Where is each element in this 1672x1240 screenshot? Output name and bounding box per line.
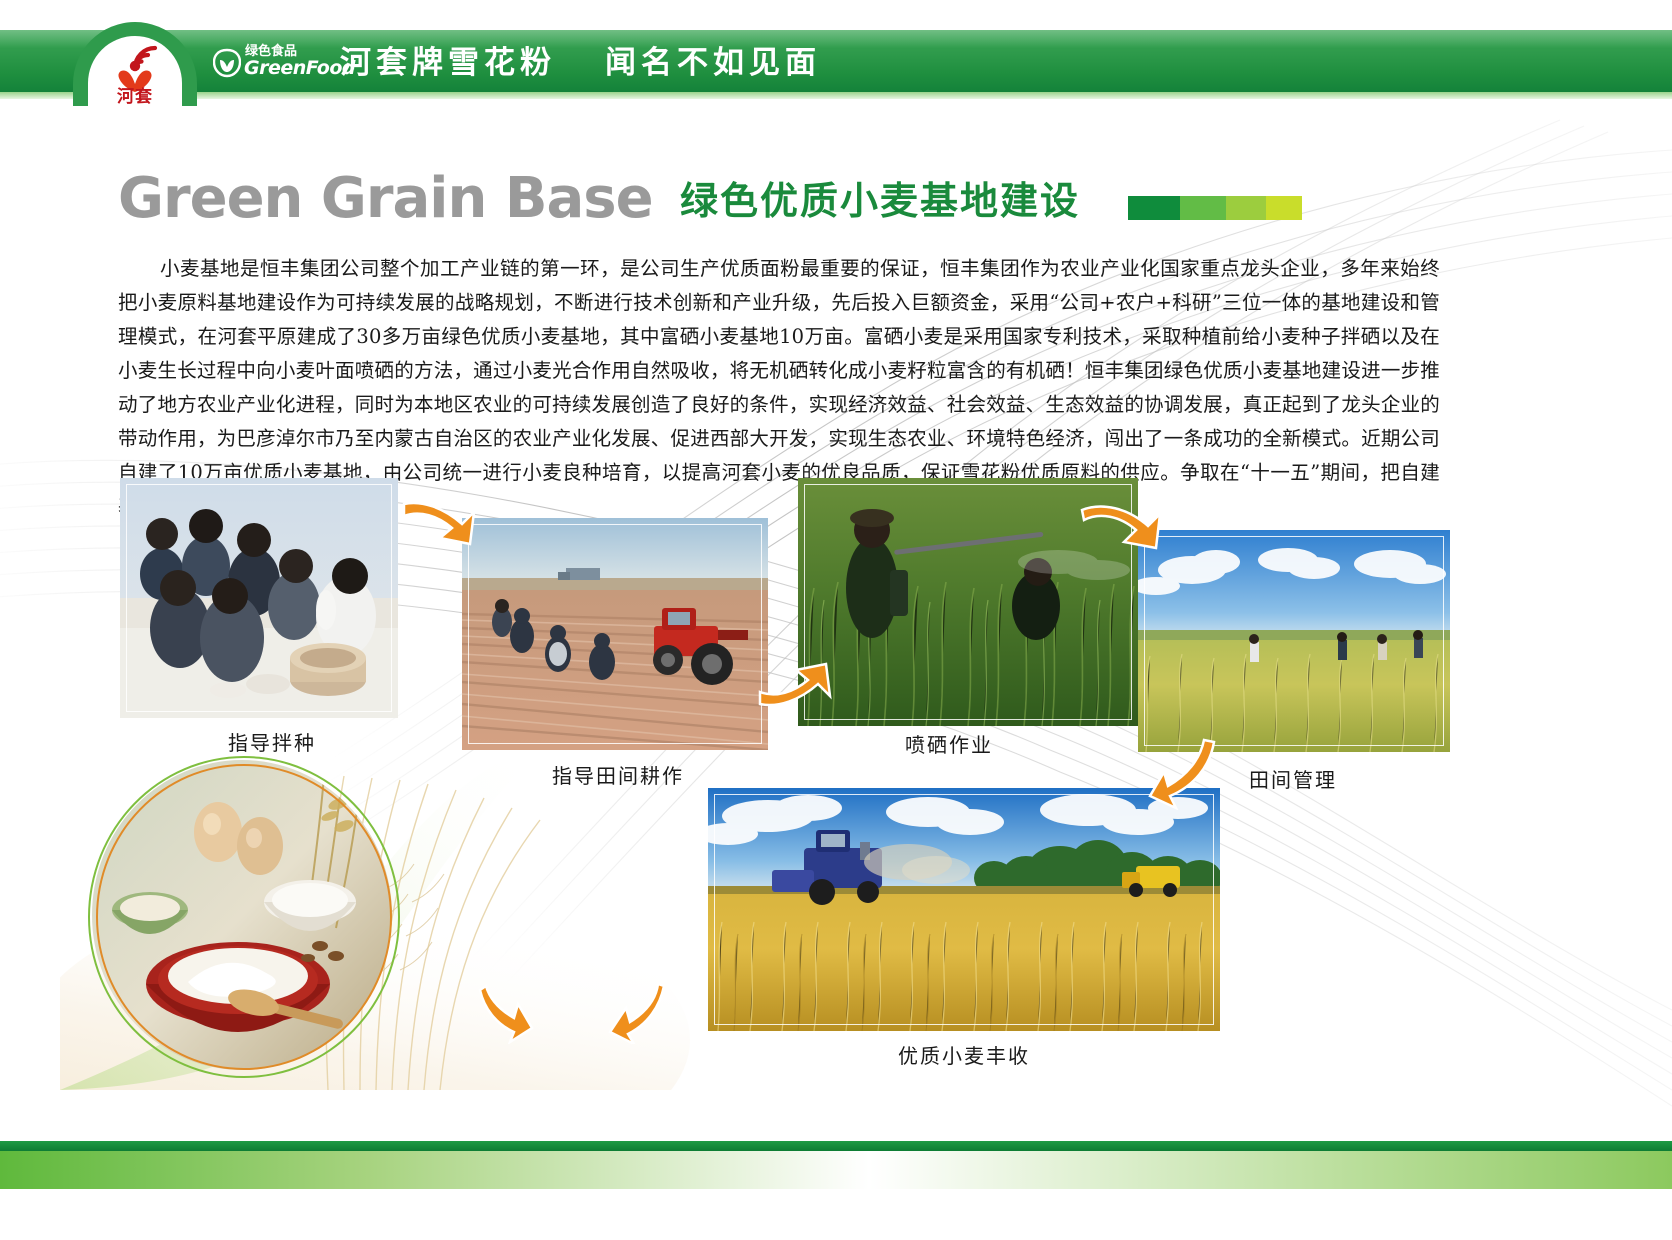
greenfood-leaf-icon — [213, 48, 241, 78]
page-title-english: Green Grain Base — [118, 168, 653, 230]
photo-caption-wheat-harvest: 优质小麦丰收 — [898, 1040, 1030, 1069]
photo-field-management — [1138, 530, 1450, 752]
title-bar-4 — [1266, 196, 1302, 220]
photo-wheat-harvest — [708, 788, 1220, 1031]
greenfood-badge: 绿色食品 GreenFood — [213, 44, 333, 82]
banner-slogan-product: 河套牌雪花粉 — [340, 41, 556, 85]
title-color-bars — [1128, 196, 1302, 220]
photo-caption-selenium-spraying: 喷硒作业 — [905, 729, 993, 758]
photo-seed-mixing — [120, 478, 398, 718]
arrow-6-icon — [608, 982, 676, 1044]
title-bar-1 — [1128, 196, 1180, 220]
top-banner-underline — [0, 92, 1672, 99]
banner-slogan-tagline: 闻名不如见面 — [605, 41, 821, 85]
arrow-5-icon — [470, 984, 536, 1044]
bottom-white-margin — [0, 1189, 1672, 1240]
photo-caption-field-tillage: 指导田间耕作 — [552, 760, 684, 789]
greenfood-english-label: GreenFood — [244, 58, 355, 79]
logo-chinese-text: 河套 — [101, 86, 169, 110]
poster-page: 河套 绿色食品 GreenFood 河套牌雪花粉 闻名不如见面 Green Gr… — [0, 0, 1672, 1240]
photo-selenium-spraying — [798, 478, 1138, 726]
photo-caption-field-management: 田间管理 — [1249, 764, 1337, 793]
photo-field-tillage — [462, 518, 768, 750]
page-title-chinese: 绿色优质小麦基地建设 — [680, 178, 1080, 224]
title-bar-2 — [1180, 196, 1226, 220]
bottom-gradient-bar — [0, 1151, 1672, 1189]
photo-caption-seed-mixing: 指导拌种 — [228, 727, 316, 756]
title-bar-3 — [1226, 196, 1266, 220]
oval-orange-ring — [96, 764, 392, 1070]
bottom-green-bar — [0, 1141, 1672, 1151]
